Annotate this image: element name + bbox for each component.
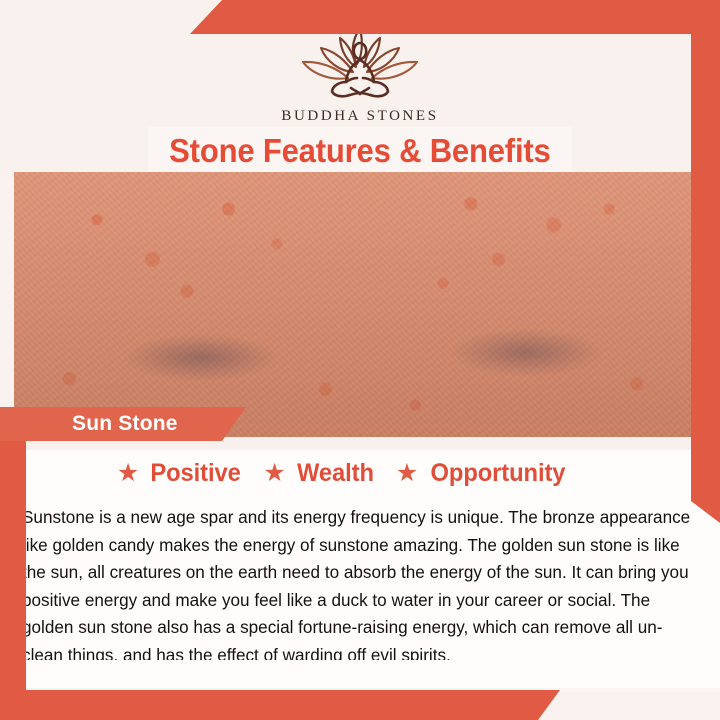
page-title: Stone Features & Benefits: [169, 132, 550, 170]
star-icon: ★: [396, 461, 418, 486]
brand-logo-block: BUDDHA STONES: [0, 24, 720, 125]
stone-name-ribbon: Sun Stone: [0, 407, 246, 441]
keyword-row: ★ Positive ★ Wealth ★ Opportunity: [26, 459, 660, 488]
photo-shading-layer: [14, 172, 706, 437]
content-bottom-fill: [26, 660, 720, 690]
stone-description: Sunstone is a new age spar and its energ…: [22, 504, 698, 669]
frame-accent-right: [691, 0, 720, 523]
keyword-item-wealth: ★ Wealth: [263, 459, 375, 488]
poster-root: BUDDHA STONES Stone Features & Benefits …: [0, 0, 720, 720]
keyword-label: Opportunity: [431, 459, 566, 488]
keyword-item-opportunity: ★ Opportunity: [396, 459, 569, 488]
star-icon: ★: [263, 461, 285, 486]
lotus-meditation-icon: [285, 24, 435, 102]
keyword-label: Wealth: [297, 459, 374, 488]
content-card: ★ Positive ★ Wealth ★ Opportunity Sunsto…: [26, 437, 720, 690]
title-banner: Stone Features & Benefits: [148, 127, 572, 174]
frame-accent-bottom: [0, 690, 560, 720]
stone-name-label: Sun Stone: [72, 412, 178, 436]
keyword-label: Positive: [151, 459, 241, 488]
frame-accent-left: [0, 415, 26, 720]
frame-accent-top-right: [190, 0, 720, 34]
brand-wordmark: BUDDHA STONES: [0, 108, 720, 125]
star-icon: ★: [117, 461, 139, 486]
keyword-item-positive: ★ Positive: [117, 459, 244, 488]
sunstone-photo: [14, 172, 706, 437]
